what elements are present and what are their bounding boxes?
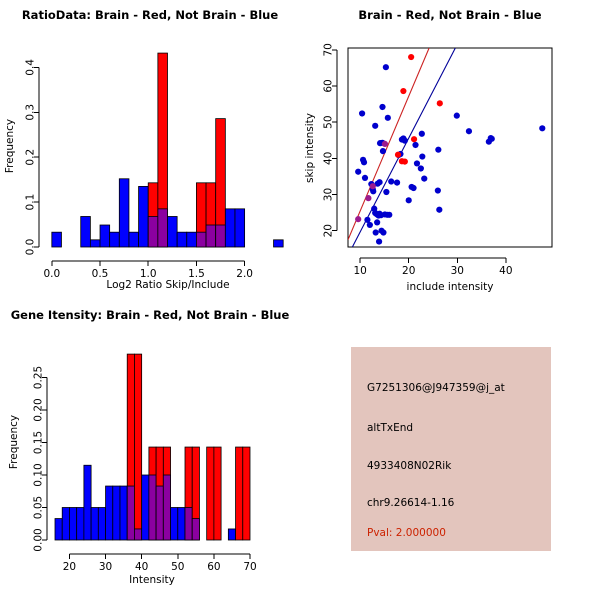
x-axis-tick-label: 30 (451, 265, 464, 277)
scatter-point (383, 64, 389, 70)
histogram-bar-blue (69, 508, 76, 541)
scatter-point (370, 183, 376, 189)
scatter-point (355, 216, 361, 222)
histogram-bar-blue (168, 216, 178, 247)
info-box: G7251306@J947359@j_at altTxEnd 4933408N0… (351, 347, 551, 551)
scatter-point (388, 178, 394, 184)
x-axis-tick-label: 20 (402, 265, 415, 277)
scatter-point (437, 100, 443, 106)
locus-label: chr9.26614-1.16 (367, 497, 454, 509)
scatter-point (412, 142, 418, 148)
x-axis-tick-label: 50 (171, 561, 184, 573)
scatter-point (410, 185, 416, 191)
scatter-point (374, 219, 380, 225)
y-axis-tick-label: 0.3 (25, 104, 37, 121)
histogram-bar-red (243, 447, 250, 540)
histogram-bar-blue (110, 232, 120, 247)
histogram-bar-blue (139, 186, 149, 247)
histogram-bar-blue (100, 225, 110, 247)
histogram-bar-overlap (216, 225, 226, 247)
scatter-content (348, 48, 545, 247)
histogram-bar-overlap (134, 529, 141, 540)
y-axis-tick-label: 70 (323, 43, 335, 56)
histogram-bar-blue (91, 508, 98, 541)
y-axis-tick-label: 0.10 (33, 463, 45, 486)
x-axis-tick-label: 60 (207, 561, 220, 573)
x-axis-title: include intensity (407, 281, 494, 293)
scatter-plot-svg: 10203040203040506070include intensityski… (300, 0, 600, 300)
histogram-bar-blue (235, 209, 245, 247)
histogram-bar-blue (55, 519, 62, 540)
scatter-point (394, 179, 400, 185)
ratio-histogram-svg: 0.00.51.01.52.00.00.10.20.30.4Log2 Ratio… (0, 0, 300, 300)
histogram-bar-red (214, 447, 221, 540)
scatter-point (418, 165, 424, 171)
pval-label: Pval: 2.000000 (367, 527, 446, 539)
y-axis-tick-label: 40 (323, 152, 335, 165)
scatter-point (436, 207, 442, 213)
scatter-point (385, 115, 391, 121)
histogram-bar-overlap (192, 519, 199, 540)
gene-info-panel: G7251306@J947359@j_at altTxEnd 4933408N0… (300, 300, 600, 600)
scatter-point (355, 169, 361, 175)
histogram-bar-overlap (163, 475, 170, 540)
histogram-bar-blue (225, 209, 235, 247)
histogram-bar-overlap (185, 508, 192, 541)
y-axis-tick-label: 0.05 (33, 496, 45, 519)
scatter-point (359, 110, 365, 116)
histogram-bar-blue (52, 232, 62, 247)
scatter-point (454, 113, 460, 119)
histogram-bar-blue (187, 232, 197, 247)
histogram-bar-red (134, 354, 141, 540)
scatter-point (539, 125, 545, 131)
histogram-bar-overlap (148, 216, 158, 247)
gene-histogram-panel: Gene Itensity: Brain - Red, Not Brain - … (0, 300, 300, 600)
histogram-bar-blue (119, 179, 129, 247)
scatter-point (402, 159, 408, 165)
histogram-bar-overlap (149, 475, 156, 540)
histogram-bar-blue (274, 240, 284, 247)
probe-id-label: G7251306@J947359@j_at (367, 382, 505, 394)
histogram-bar-blue (62, 508, 69, 541)
histogram-bar-blue (81, 216, 91, 247)
scatter-point (395, 152, 401, 158)
x-axis-title: Intensity (129, 574, 175, 586)
scatter-point (400, 88, 406, 94)
scatter-point (373, 229, 379, 235)
histogram-bar-red (236, 447, 243, 540)
scatter-plot-panel: Brain - Red, Not Brain - Blue 1020304020… (300, 0, 600, 300)
histogram-bar-blue (120, 486, 127, 540)
histogram-bar-blue (178, 508, 185, 541)
scatter-point (402, 138, 408, 144)
y-axis-tick-label: 0.1 (25, 194, 37, 211)
scatter-point (379, 104, 385, 110)
x-axis-tick-label: 20 (63, 561, 76, 573)
histogram-bar-overlap (158, 209, 168, 247)
scatter-point (435, 187, 441, 193)
x-axis-tick-label: 30 (99, 561, 112, 573)
y-axis-tick-label: 0.15 (33, 431, 45, 454)
gene-histogram-title: Gene Itensity: Brain - Red, Not Brain - … (0, 308, 300, 322)
histogram-bar-blue (142, 475, 149, 540)
scatter-point (376, 238, 382, 244)
scatter-point (466, 128, 472, 134)
x-axis-tick-label: 40 (499, 265, 512, 277)
scatter-point (376, 179, 382, 185)
scatter-point (372, 123, 378, 129)
scatter-plot-title: Brain - Red, Not Brain - Blue (300, 8, 600, 22)
scatter-point (380, 229, 386, 235)
histogram-bar-blue (84, 465, 91, 540)
scatter-point (406, 197, 412, 203)
y-axis-tick-label: 0.2 (25, 149, 37, 166)
x-axis-tick-label: 2.0 (236, 268, 253, 280)
x-axis-title: Log2 Ratio Skip/Include (106, 279, 229, 291)
histogram-bar-blue (171, 508, 178, 541)
histogram-bar-blue (129, 232, 139, 247)
histogram-bar-overlap (206, 225, 216, 247)
y-axis-tick-label: 30 (323, 188, 335, 201)
scatter-point (383, 189, 389, 195)
y-axis-tick-label: 50 (323, 115, 335, 128)
histogram-bar-blue (113, 486, 120, 540)
y-axis-title: Frequency (4, 119, 16, 173)
x-axis-tick-label: 40 (135, 561, 148, 573)
event-type-label: altTxEnd (367, 422, 413, 434)
y-axis-tick-label: 20 (323, 224, 335, 237)
histogram-bar-blue (177, 232, 187, 247)
scatter-point (419, 131, 425, 137)
gene-symbol-label: 4933408N02Rik (367, 460, 451, 472)
scatter-point (382, 141, 388, 147)
scatter-point (419, 153, 425, 159)
scatter-point (364, 217, 370, 223)
histogram-bar-overlap (196, 232, 206, 247)
ratio-histogram-title: RatioData: Brain - Red, Not Brain - Blue (0, 8, 300, 22)
scatter-point (365, 195, 371, 201)
y-axis-tick-label: 0.4 (25, 59, 37, 76)
scatter-point (489, 136, 495, 142)
histogram-bar-blue (98, 508, 105, 541)
histogram-bar-blue (90, 240, 100, 247)
gene-histogram-svg: 2030405060700.000.050.100.150.200.25Inte… (0, 300, 300, 600)
y-axis-tick-label: 0.20 (33, 398, 45, 421)
y-axis-tick-label: 60 (323, 79, 335, 92)
scatter-point (362, 175, 368, 181)
scatter-point (414, 160, 420, 166)
scatter-point (408, 54, 414, 60)
x-axis-tick-label: 10 (353, 265, 366, 277)
histogram-bar-overlap (127, 486, 134, 540)
y-axis-tick-label: 0.0 (25, 239, 37, 256)
y-axis-tick-label: 0.00 (33, 528, 45, 551)
scatter-point (386, 212, 392, 218)
scatter-point (411, 136, 417, 142)
x-axis-tick-label: 0.0 (43, 268, 60, 280)
scatter-point (421, 176, 427, 182)
histogram-bar-blue (106, 486, 113, 540)
y-axis-tick-label: 0.25 (33, 366, 45, 389)
scatter-point (380, 148, 386, 154)
histogram-bar-red (207, 447, 214, 540)
scatter-point (435, 147, 441, 153)
histogram-bar-blue (228, 529, 235, 540)
x-axis-tick-label: 70 (243, 561, 256, 573)
histogram-bar-blue (77, 508, 84, 541)
y-axis-title: Frequency (8, 415, 20, 469)
ratio-histogram-panel: RatioData: Brain - Red, Not Brain - Blue… (0, 0, 300, 300)
scatter-point (361, 159, 367, 165)
histogram-bar-overlap (156, 486, 163, 540)
y-axis-title: skip intensity (304, 113, 316, 183)
